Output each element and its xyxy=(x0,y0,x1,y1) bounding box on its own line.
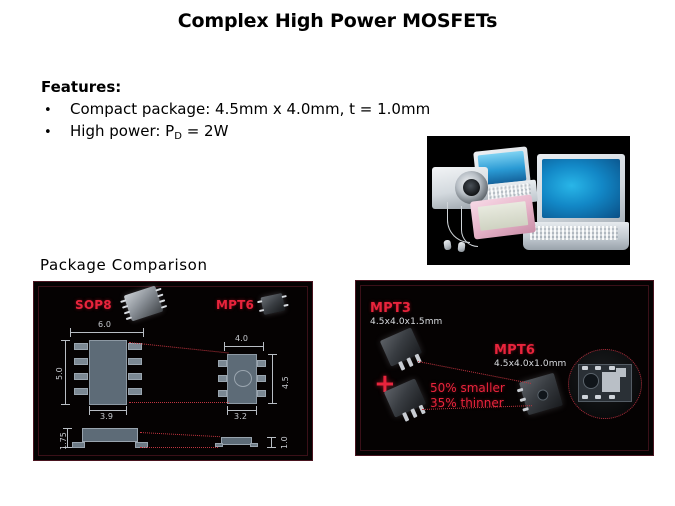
mpt6-width-top-value: 4.0 xyxy=(235,334,248,343)
list-item: • High power: PD = 2W xyxy=(41,121,461,147)
package-pin xyxy=(120,299,126,303)
package-evolution-right-panel: MPT3 4.5x4.0x1.5mm MPT6 4.5x4.0x1.0mm + … xyxy=(355,280,654,456)
package-pin xyxy=(282,295,287,298)
sop8-height-left-value: 5.0 xyxy=(55,367,64,380)
package-pin xyxy=(259,309,264,312)
dimension-tick xyxy=(263,342,264,351)
sop8-lead xyxy=(128,358,142,365)
dimension-tick xyxy=(89,406,90,415)
features-heading: Features: xyxy=(41,78,461,97)
mpt6-thickness-value: 1.0 xyxy=(280,436,289,449)
sop8-body-topview xyxy=(89,340,127,405)
sop8-3d-render xyxy=(124,286,164,322)
consumer-electronics-photo xyxy=(427,136,630,265)
slide-root: Complex High Power MOSFETs Features: • C… xyxy=(0,0,675,506)
sop8-thickness-value: 1.75 xyxy=(59,432,68,450)
package-comparison-heading: Package Comparison xyxy=(40,256,208,274)
package-pin xyxy=(257,300,262,303)
sop8-side-foot xyxy=(72,442,85,448)
mpt6-3d-render xyxy=(260,293,285,315)
bullet-text-high-power-suffix: = 2W xyxy=(182,122,228,140)
package-pin xyxy=(126,316,132,320)
mpt6-bodywidth-dimension-line xyxy=(227,410,257,411)
bullet-marker-icon: • xyxy=(41,100,70,121)
sop8-lead xyxy=(74,358,88,365)
bullet-text-high-power: High power: PD = 2W xyxy=(70,121,461,147)
dimension-tick xyxy=(227,406,228,415)
package-pin xyxy=(522,407,529,412)
die-bond-pad xyxy=(582,395,588,399)
claim-smaller: 50% smaller xyxy=(430,381,505,395)
sop8-width-bottom-value: 3.9 xyxy=(100,412,113,421)
sop8-width-top-value: 6.0 xyxy=(98,320,111,329)
sop8-bodywidth-dimension-line xyxy=(89,410,127,411)
side-connector-line xyxy=(140,447,218,448)
mpt6-height-dimension-line xyxy=(272,354,273,404)
dimension-tick xyxy=(126,406,127,415)
mpt6-3d-render xyxy=(519,373,563,416)
package-pin xyxy=(157,294,163,298)
dimension-tick xyxy=(256,406,257,415)
dimension-tick xyxy=(61,340,70,341)
sop8-lead xyxy=(128,388,142,395)
mpt6-side-foot xyxy=(250,443,258,447)
list-item: • Compact package: 4.5mm x 4.0mm, t = 1.… xyxy=(41,99,461,121)
side-connector-line xyxy=(140,432,220,437)
mpt6-label: MPT6 xyxy=(494,343,535,358)
dimension-tick xyxy=(143,328,144,337)
dimension-tick xyxy=(224,342,225,351)
die-bond-pad xyxy=(609,366,615,370)
dimension-tick xyxy=(61,404,70,405)
package-comparison-left-panel: SOP8 MPT6 6.0 5.0 xyxy=(33,281,313,461)
dimension-tick xyxy=(268,354,277,355)
package-pin xyxy=(398,361,405,371)
comparison-connector-line xyxy=(129,342,229,353)
package-pin xyxy=(124,311,130,315)
die-inset-circle xyxy=(568,349,642,419)
mpt6-lead xyxy=(218,360,227,367)
bullet-text-high-power-prefix: High power: P xyxy=(70,122,174,140)
mpt6-lead xyxy=(257,360,266,367)
sop8-lead xyxy=(128,373,142,380)
camera-lens-core xyxy=(463,179,480,196)
dimension-tick xyxy=(63,428,72,429)
dimension-tick xyxy=(267,447,276,448)
die-metal-trace xyxy=(616,368,626,377)
mpt6-center-pad xyxy=(234,370,252,387)
package-pin xyxy=(283,304,288,307)
mpt6-top-marking xyxy=(536,388,550,402)
laptop-screen xyxy=(542,159,620,218)
sop8-lead xyxy=(74,343,88,350)
package-pin xyxy=(122,305,128,309)
package-pin xyxy=(406,357,413,367)
features-block: Features: • Compact package: 4.5mm x 4.0… xyxy=(41,78,461,147)
mpt6-side-profile xyxy=(221,437,252,445)
dimension-tick xyxy=(70,328,71,337)
page-title: Complex High Power MOSFETs xyxy=(0,10,675,32)
die-bond-pad xyxy=(609,395,615,399)
die-center-pad xyxy=(583,373,599,389)
bullet-text-compact-package: Compact package: 4.5mm x 4.0mm, t = 1.0m… xyxy=(70,99,461,120)
mpt3-3d-render xyxy=(380,327,422,366)
die-bond-pad xyxy=(595,395,601,399)
laptop-keyboard xyxy=(530,226,618,240)
sop8-lead xyxy=(74,373,88,380)
mpt6-lead xyxy=(218,375,227,382)
mpt3-label: MPT3 xyxy=(370,301,411,316)
mpt6-height-right-value: 4.5 xyxy=(281,376,290,389)
die-bond-pad xyxy=(595,366,601,370)
dimension-tick xyxy=(267,437,276,438)
package-pin xyxy=(159,299,165,303)
mpt6-width-bottom-value: 3.2 xyxy=(234,412,247,421)
die-bond-pad xyxy=(582,366,588,370)
bullet-subscript-d: D xyxy=(174,131,182,142)
mpt6-spec: 4.5x4.0x1.0mm xyxy=(494,359,566,369)
photo-composition xyxy=(427,136,630,265)
package-pin xyxy=(161,305,167,309)
bullet-marker-icon: • xyxy=(41,122,70,143)
sop8-lead xyxy=(74,388,88,395)
package-pin xyxy=(402,412,409,422)
mpt6-lead xyxy=(257,375,266,382)
package-pin xyxy=(410,408,417,418)
earbud xyxy=(443,240,451,251)
package-pin xyxy=(517,388,524,393)
dimension-tick xyxy=(268,403,277,404)
sop8-height-dimension-line xyxy=(65,340,66,405)
sop8-width-dimension-line xyxy=(70,332,144,333)
package-pin xyxy=(520,397,527,402)
mpt3-spec: 4.5x4.0x1.5mm xyxy=(370,317,442,327)
mpt6-lead xyxy=(218,390,227,397)
mpt6-width-dimension-line xyxy=(224,346,264,347)
sop8-side-profile xyxy=(82,428,138,442)
package-pin xyxy=(155,288,161,292)
mpt6-lead xyxy=(257,390,266,397)
mpt6-label: MPT6 xyxy=(216,298,254,312)
comparison-connector-line xyxy=(129,402,229,403)
earbud xyxy=(457,242,465,253)
sop8-label: SOP8 xyxy=(75,298,112,312)
